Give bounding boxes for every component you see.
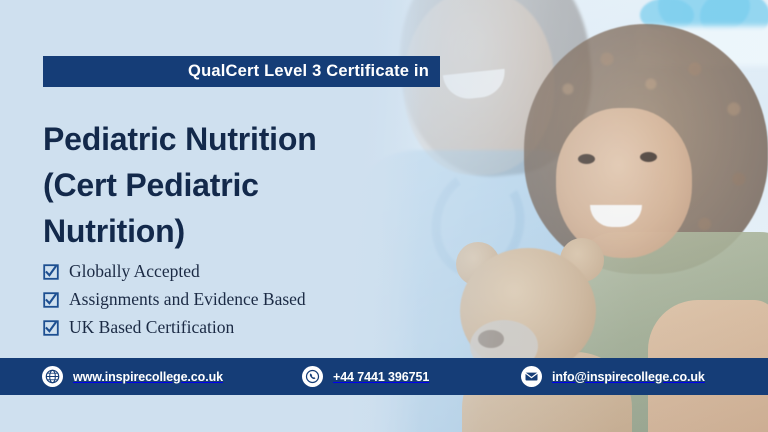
envelope-icon bbox=[521, 366, 542, 387]
globe-icon bbox=[42, 366, 63, 387]
checkbox-checked-icon bbox=[43, 264, 59, 280]
email-label: info@inspirecollege.co.uk bbox=[552, 370, 705, 384]
course-promo-banner: QualCert Level 3 Certificate in Pediatri… bbox=[0, 0, 768, 432]
whatsapp-phone-icon bbox=[302, 366, 323, 387]
page-title-line-2: (Cert Pediatric bbox=[43, 162, 343, 208]
checkbox-checked-icon bbox=[43, 292, 59, 308]
page-title-line-3: Nutrition) bbox=[43, 208, 343, 254]
checkbox-checked-icon bbox=[43, 320, 59, 336]
list-item: Globally Accepted bbox=[43, 259, 306, 284]
feature-label: Globally Accepted bbox=[69, 261, 200, 282]
website-link[interactable]: www.inspirecollege.co.uk bbox=[42, 366, 223, 387]
email-link[interactable]: info@inspirecollege.co.uk bbox=[521, 366, 705, 387]
banner-content: QualCert Level 3 Certificate in Pediatri… bbox=[0, 0, 768, 432]
list-item: Assignments and Evidence Based bbox=[43, 287, 306, 312]
page-title-line-1: Pediatric Nutrition bbox=[43, 116, 343, 162]
feature-list: Globally Accepted Assignments and Eviden… bbox=[43, 259, 306, 343]
feature-label: Assignments and Evidence Based bbox=[69, 289, 306, 310]
list-item: UK Based Certification bbox=[43, 315, 306, 340]
contact-footer-bar: www.inspirecollege.co.uk +44 7441 396751 bbox=[0, 358, 768, 395]
feature-label: UK Based Certification bbox=[69, 317, 234, 338]
page-title: Pediatric Nutrition (Cert Pediatric Nutr… bbox=[43, 116, 343, 254]
qualification-badge-label: QualCert Level 3 Certificate in bbox=[188, 62, 429, 81]
qualification-badge: QualCert Level 3 Certificate in bbox=[43, 56, 440, 87]
website-label: www.inspirecollege.co.uk bbox=[73, 370, 223, 384]
phone-link[interactable]: +44 7441 396751 bbox=[302, 366, 429, 387]
phone-label: +44 7441 396751 bbox=[333, 370, 429, 384]
